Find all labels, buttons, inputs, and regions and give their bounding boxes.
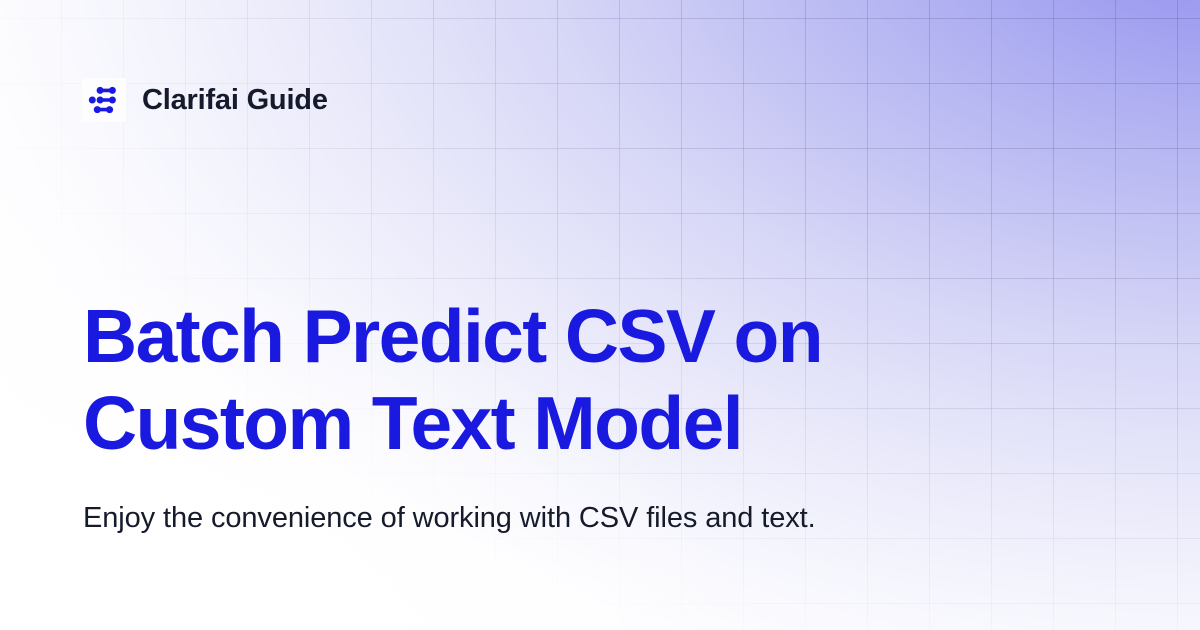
brand-name: Clarifai Guide: [142, 86, 328, 115]
page-title: Batch Predict CSV on Custom Text Model: [83, 293, 1043, 467]
page-subtitle: Enjoy the convenience of working with CS…: [83, 499, 883, 538]
banner-content: Clarifai Guide Batch Predict CSV on Cust…: [0, 0, 1200, 630]
brand-lockup: Clarifai Guide: [82, 78, 328, 122]
clarifai-logo-icon: [82, 78, 126, 122]
og-banner: Clarifai Guide Batch Predict CSV on Cust…: [0, 0, 1200, 630]
